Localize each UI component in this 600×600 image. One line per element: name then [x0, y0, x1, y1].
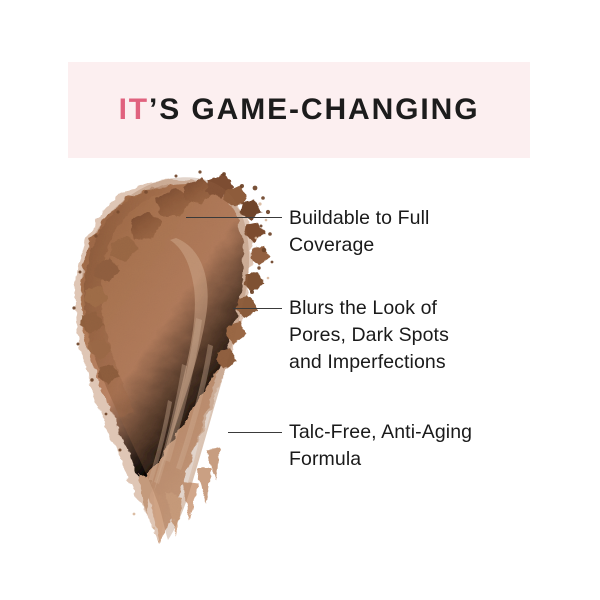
leader-line-3 — [228, 432, 282, 433]
product-infographic: IT’S GAME-CHANGING — [0, 0, 600, 600]
callout-label-1: Buildable to Full Coverage — [289, 205, 529, 259]
callout-label-3: Talc-Free, Anti-Aging Formula — [289, 419, 529, 473]
leader-line-2 — [233, 308, 282, 309]
callout-list: Buildable to Full Coverage Blurs the Loo… — [0, 0, 600, 600]
callout-label-2: Blurs the Look of Pores, Dark Spots and … — [289, 295, 529, 376]
leader-line-1 — [186, 217, 282, 218]
